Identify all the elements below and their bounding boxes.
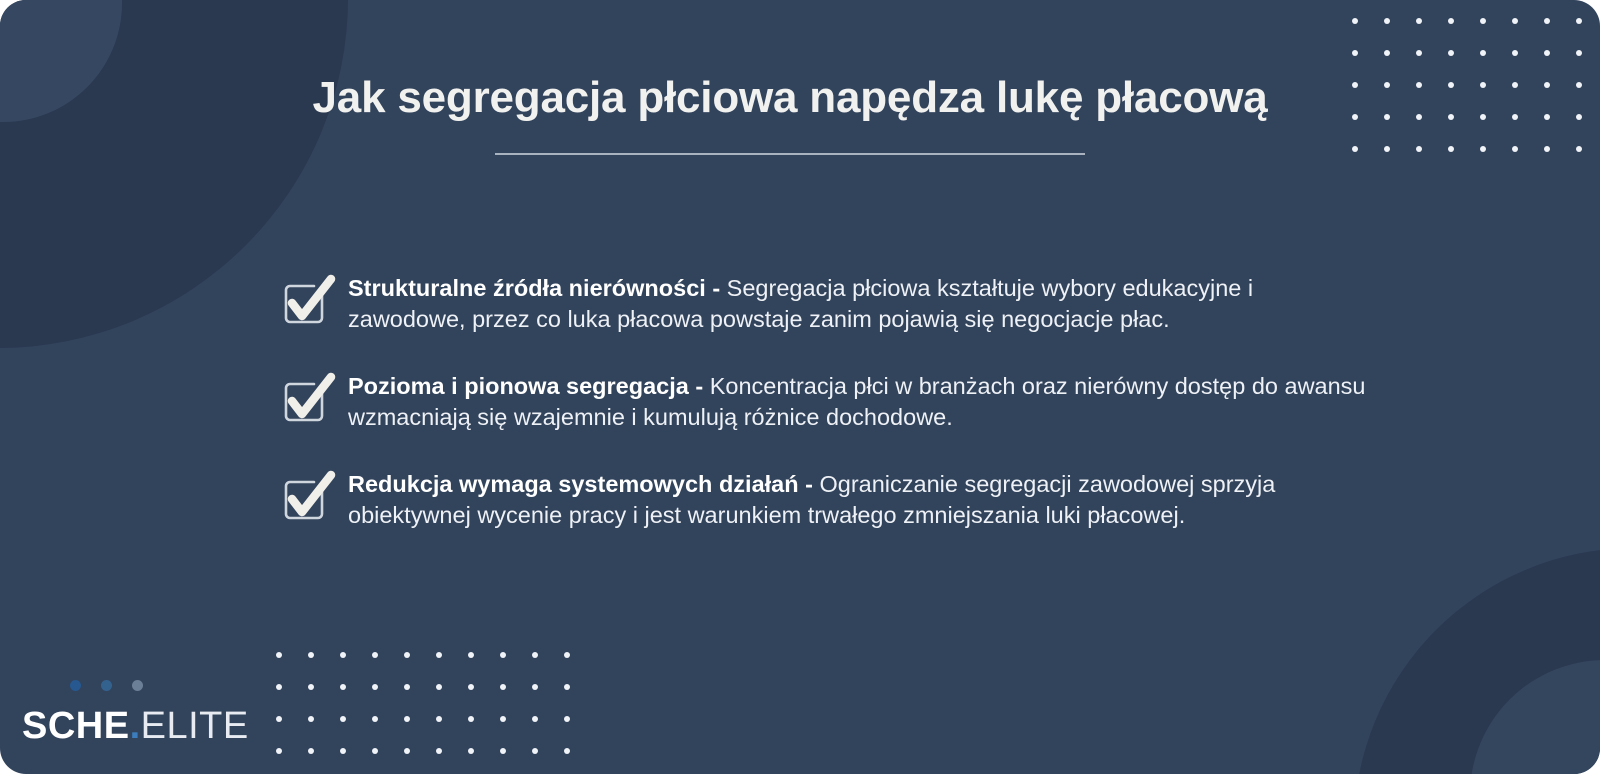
decorative-dot [1512, 146, 1518, 152]
decorative-dot [404, 684, 410, 690]
decorative-dot [276, 716, 282, 722]
decorative-dot [340, 716, 346, 722]
decorative-dot [372, 684, 378, 690]
decorative-dot [1512, 114, 1518, 120]
title-divider [495, 153, 1085, 155]
decorative-dot [1576, 114, 1582, 120]
decorative-dot [340, 748, 346, 754]
decorative-dot [1480, 50, 1486, 56]
decorative-dot [1512, 50, 1518, 56]
decorative-dot [404, 652, 410, 658]
list-item-text: Pozioma i pionowa segregacja - Koncentra… [348, 366, 1368, 434]
decorative-dot [372, 652, 378, 658]
logo-dot [70, 680, 81, 691]
logo-secondary-text: ELITE [141, 705, 249, 747]
decorative-dot [1352, 18, 1358, 24]
decorative-dot [1448, 82, 1454, 88]
decorative-dot [564, 716, 570, 722]
decorative-dot [468, 716, 474, 722]
logo-dots [70, 680, 249, 691]
decorative-dot [404, 748, 410, 754]
decorative-dot [468, 684, 474, 690]
decorative-dot-grid-bottom-left [276, 652, 596, 774]
checkbox-checked-icon [278, 372, 336, 430]
decorative-dot [1384, 50, 1390, 56]
logo-dot [101, 680, 112, 691]
decorative-dot [1352, 146, 1358, 152]
decorative-dot [1576, 18, 1582, 24]
decorative-dot [532, 684, 538, 690]
decorative-dot [1416, 114, 1422, 120]
decorative-dot [500, 748, 506, 754]
decorative-dot [500, 652, 506, 658]
decorative-dot [1576, 146, 1582, 152]
decorative-dot [276, 748, 282, 754]
decorative-circle-bottom-right [1354, 548, 1600, 774]
list-item-lead: Redukcja wymaga systemowych działań - [348, 471, 813, 497]
decorative-circle-bottom-right-inner [1470, 660, 1600, 774]
decorative-dot [1480, 146, 1486, 152]
decorative-dot [1352, 114, 1358, 120]
decorative-dot [436, 716, 442, 722]
decorative-dot [276, 652, 282, 658]
decorative-dot [1576, 50, 1582, 56]
decorative-dot [1384, 114, 1390, 120]
decorative-dot [436, 748, 442, 754]
decorative-dot [1544, 146, 1550, 152]
logo-primary-text: SCHE [22, 705, 130, 747]
decorative-dot [1416, 82, 1422, 88]
decorative-dot [1480, 114, 1486, 120]
decorative-dot [404, 716, 410, 722]
decorative-dot [436, 652, 442, 658]
decorative-dot [1544, 82, 1550, 88]
decorative-dot [340, 652, 346, 658]
decorative-dot [1352, 50, 1358, 56]
list-item-lead: Pozioma i pionowa segregacja - [348, 373, 703, 399]
checkbox-checked-icon [278, 470, 336, 528]
decorative-dot [340, 684, 346, 690]
decorative-dot [308, 748, 314, 754]
decorative-dot [500, 716, 506, 722]
logo-dot [132, 680, 143, 691]
list-item-text: Strukturalne źródła nierówności - Segreg… [348, 268, 1368, 336]
decorative-dot [564, 748, 570, 754]
title-block: Jak segregacja płciowa napędza lukę płac… [300, 68, 1280, 155]
decorative-dot [1448, 50, 1454, 56]
decorative-dot [276, 684, 282, 690]
list-item-lead: Strukturalne źródła nierówności - [348, 275, 720, 301]
decorative-dot [308, 652, 314, 658]
decorative-dot [1448, 114, 1454, 120]
decorative-dot [1576, 82, 1582, 88]
logo-wordmark: SCHE.ELITE [22, 705, 249, 748]
decorative-dot [532, 716, 538, 722]
decorative-dot [1544, 18, 1550, 24]
decorative-dot [564, 652, 570, 658]
list-item: Redukcja wymaga systemowych działań - Og… [278, 464, 1368, 532]
decorative-dot [1512, 18, 1518, 24]
decorative-dot [1480, 18, 1486, 24]
decorative-dot [468, 652, 474, 658]
decorative-dot [1384, 146, 1390, 152]
decorative-dot [1480, 82, 1486, 88]
brand-logo: SCHE.ELITE [22, 680, 249, 748]
bullet-list: Strukturalne źródła nierówności - Segreg… [278, 268, 1368, 532]
checkbox-checked-icon [278, 274, 336, 332]
decorative-dot [468, 748, 474, 754]
decorative-dot [500, 684, 506, 690]
decorative-dot [1416, 50, 1422, 56]
decorative-dot [1512, 82, 1518, 88]
decorative-dot [1384, 18, 1390, 24]
decorative-dot [436, 684, 442, 690]
decorative-dot [1416, 146, 1422, 152]
decorative-dot-grid-top-right [1352, 18, 1600, 178]
list-item: Pozioma i pionowa segregacja - Koncentra… [278, 366, 1368, 434]
decorative-dot [1416, 18, 1422, 24]
decorative-dot [1384, 82, 1390, 88]
decorative-dot [372, 716, 378, 722]
decorative-dot [1544, 50, 1550, 56]
logo-separator-dot: . [130, 705, 141, 747]
decorative-circle-top-left-inner [0, 0, 122, 122]
decorative-dot [1544, 114, 1550, 120]
decorative-dot [532, 652, 538, 658]
decorative-dot [1352, 82, 1358, 88]
decorative-dot [532, 748, 538, 754]
list-item: Strukturalne źródła nierówności - Segreg… [278, 268, 1368, 336]
list-item-text: Redukcja wymaga systemowych działań - Og… [348, 464, 1368, 532]
page-title: Jak segregacja płciowa napędza lukę płac… [300, 68, 1280, 129]
decorative-dot [308, 684, 314, 690]
decorative-dot [372, 748, 378, 754]
decorative-dot [1448, 146, 1454, 152]
decorative-dot [564, 684, 570, 690]
decorative-dot [308, 716, 314, 722]
slide-canvas: Jak segregacja płciowa napędza lukę płac… [0, 0, 1600, 774]
decorative-dot [1448, 18, 1454, 24]
